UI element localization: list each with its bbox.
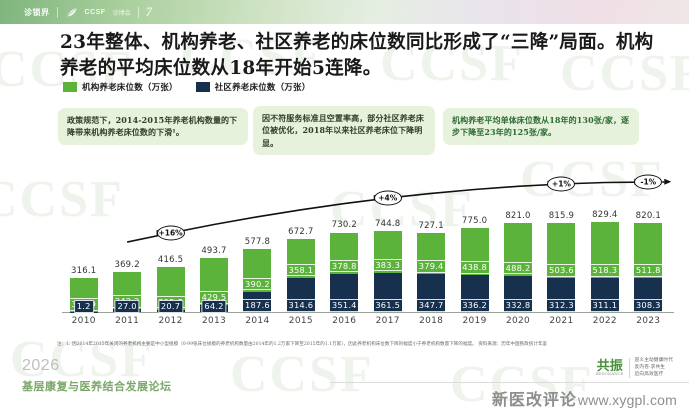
bar-segment-label: 351.4	[329, 299, 360, 312]
brand-tagline: 迎义主动健康时代	[635, 358, 673, 364]
brand-tagline: 迈向高效医疗	[635, 372, 673, 378]
x-axis-tick-label: 2016	[332, 316, 356, 326]
bar-total-label: 577.8	[245, 237, 270, 247]
bar-segment-label: 488.2	[503, 262, 534, 275]
x-axis-tick-label: 2010	[72, 316, 96, 326]
resonance-logo-sub: RESONANCE	[596, 373, 624, 377]
bar-segment-institutional: 358.1	[287, 239, 315, 278]
callout-policy-note: 政策规范下，2014-2015年养老机构数量的下降带来机构养老床位数的下滑¹。	[58, 108, 248, 145]
legend-swatch-icon	[196, 82, 210, 92]
bar-group: 821.0488.2332.8	[504, 223, 532, 312]
bar-segment-institutional: 488.2	[504, 223, 532, 276]
bar-segment-label: 20.7	[158, 300, 183, 313]
bar-segment-label: 347.7	[416, 299, 447, 312]
bar-segment-label: 379.4	[416, 260, 447, 273]
x-axis-tick-label: 2015	[289, 316, 313, 326]
bar-segment-label: 332.8	[503, 299, 534, 312]
x-axis-tick-label: 2021	[549, 316, 573, 326]
bar-group: 493.7429.564.2	[200, 258, 228, 312]
bar-segment-institutional: 518.3	[591, 222, 619, 278]
bar-segment-community: 311.1	[591, 278, 619, 312]
bar-segment-label: 383.3	[372, 259, 403, 272]
brand-tagline: 反内卷·求共生	[635, 365, 673, 371]
callout-community-note: 因不符服务标准且空置率高，部分社区养老床位被优化，2018年以来社区养老床位下降…	[253, 106, 435, 155]
footnote-text: 注：1. 因2014年2015年关闭的养老机构主要是中小型规模（0-99张床位规…	[57, 341, 627, 349]
bar-segment-label: 511.8	[633, 264, 664, 277]
bar-total-label: 775.0	[462, 216, 487, 226]
bar-group: 672.7358.1314.6	[287, 239, 315, 312]
bar-group: 820.1511.8308.3	[634, 223, 662, 312]
bar-segment-label: 308.3	[633, 299, 664, 312]
growth-badge: +4%	[374, 191, 402, 206]
bar-segment-label: 518.3	[589, 264, 620, 277]
legend-item-institutional: 机构养老床位数（万张）	[63, 81, 178, 93]
bar-segment-community: 347.7	[417, 274, 445, 312]
bar-group: 815.9503.6312.3	[547, 223, 575, 312]
brand-divider	[629, 358, 630, 378]
header-divider	[57, 7, 58, 18]
bar-segment-label: 390.2	[242, 278, 273, 291]
bar-segment-community: 351.4	[330, 274, 358, 312]
x-axis-tick-label: 2023	[636, 316, 660, 326]
bar-segment-label: 503.6	[546, 264, 577, 277]
bar-group: 829.4518.3311.1	[591, 222, 619, 312]
bar-segment-label: 361.5	[372, 299, 403, 312]
bar-segment-label: 312.3	[546, 299, 577, 312]
growth-badge: -1%	[634, 175, 662, 190]
bar-segment-institutional: 390.2	[243, 249, 271, 291]
x-axis-tick-label: 2019	[463, 316, 487, 326]
bar-segment-institutional: 383.3	[374, 231, 402, 273]
x-axis-tick-label: 2013	[202, 316, 226, 326]
bar-total-label: 727.1	[418, 221, 443, 231]
header-brand-group: 诊锁界 CCSF 诊博会 7	[24, 5, 152, 19]
stacked-bar-chart: 316.1314.91.22010369.2342.227.02011416.5…	[0, 160, 689, 338]
growth-badge: +1%	[547, 176, 575, 191]
bar-total-label: 493.7	[201, 246, 226, 256]
bar-group: 416.5395.820.7	[157, 267, 185, 312]
bar-segment-label: 336.2	[459, 299, 490, 312]
bar-segment-label: 314.6	[285, 299, 316, 312]
bar-segment-label: 438.8	[459, 261, 490, 274]
header-divider	[138, 7, 139, 18]
issue-number-label: 7	[146, 4, 153, 20]
bar-group: 775.0438.8336.2	[461, 228, 489, 312]
legend-label: 机构养老床位数（万张）	[82, 81, 178, 93]
chart-legend: 机构养老床位数（万张） 社区养老床位数（万张）	[63, 81, 310, 93]
x-axis-tick-label: 2012	[159, 316, 183, 326]
bar-segment-label: 311.1	[589, 299, 620, 312]
bar-total-label: 829.4	[592, 210, 617, 220]
bar-segment-institutional: 511.8	[634, 223, 662, 279]
bar-group: 744.8383.3361.5	[374, 231, 402, 312]
x-axis-tick-label: 2011	[115, 316, 139, 326]
header-band: 诊锁界 CCSF 诊博会 7	[0, 0, 689, 24]
bar-total-label: 821.0	[505, 211, 530, 221]
bar-total-label: 369.2	[114, 260, 139, 270]
bar-total-label: 672.7	[288, 227, 313, 237]
leaf-icon	[65, 6, 78, 19]
brand-name-label: 诊锁界	[24, 7, 50, 18]
ccsf-sub-label: 诊博会	[113, 8, 131, 17]
bar-total-label: 316.1	[71, 266, 96, 276]
callout-average-beds-note: 机构养老平均单体床位数从18年的130张/家，逐步下降至23年的125张/家。	[443, 108, 639, 145]
resonance-logo: 共振 RESONANCE	[596, 360, 624, 377]
site-credit-url: www.xygpl.com	[578, 392, 677, 408]
bar-segment-community: 361.5	[374, 273, 402, 312]
bar-group: 316.1314.91.2	[70, 278, 98, 312]
footer-divider	[330, 382, 689, 383]
bar-segment-community: 20.7	[157, 310, 185, 312]
bar-total-label: 416.5	[158, 255, 183, 265]
bar-segment-institutional: 438.8	[461, 228, 489, 276]
bar-segment-community: 312.3	[547, 278, 575, 312]
x-axis-tick-label: 2014	[245, 316, 269, 326]
brand-tagline-group: 迎义主动健康时代 反内卷·求共生 迈向高效医疗	[635, 358, 673, 377]
growth-badge: +16%	[157, 225, 185, 240]
bar-segment-institutional: 503.6	[547, 223, 575, 278]
bar-group: 577.8390.2187.6	[243, 249, 271, 312]
bar-segment-community: 308.3	[634, 278, 662, 312]
bar-segment-label: 64.2	[201, 300, 226, 313]
legend-swatch-icon	[63, 82, 77, 92]
site-credit: 新医改评论 www.xygpl.com	[492, 386, 677, 410]
site-credit-name: 新医改评论	[492, 386, 577, 410]
x-axis-tick-label: 2022	[593, 316, 617, 326]
bar-total-label: 820.1	[636, 211, 661, 221]
watermark-text: CCSF	[230, 345, 374, 404]
x-axis-tick-label: 2018	[419, 316, 443, 326]
trend-arrow-icon	[664, 179, 671, 185]
bar-segment-institutional: 429.5	[200, 258, 228, 305]
bar-segment-label: 378.8	[329, 260, 360, 273]
bar-segment-institutional: 379.4	[417, 233, 445, 274]
x-axis-tick-label: 2020	[506, 316, 530, 326]
page-title: 23年整体、机构养老、社区养老的床位数同比形成了“三降”局面。机构养老的平均床位…	[60, 30, 660, 83]
footer-brand-block: 共振 RESONANCE 迎义主动健康时代 反内卷·求共生 迈向高效医疗	[596, 358, 673, 378]
bar-total-label: 730.2	[332, 220, 357, 230]
bar-segment-community: 27.0	[113, 309, 141, 312]
footer-forum-block: 2026 基层康复与医养结合发展论坛	[22, 358, 172, 394]
bar-segment-institutional: 378.8	[330, 233, 358, 274]
ccsf-label: CCSF	[85, 9, 106, 16]
x-axis-tick-label: 2017	[376, 316, 400, 326]
bar-segment-community: 314.6	[287, 278, 315, 312]
bar-group: 727.1379.4347.7	[417, 233, 445, 312]
bar-segment-label: 358.1	[285, 264, 316, 277]
bar-total-label: 815.9	[549, 211, 574, 221]
bar-total-label: 744.8	[375, 219, 400, 229]
legend-label: 社区养老床位数（万张）	[215, 81, 311, 93]
legend-item-community: 社区养老床位数（万张）	[196, 81, 311, 93]
bar-segment-label: 27.0	[115, 300, 140, 313]
bar-segment-label: 187.6	[242, 299, 273, 312]
bar-segment-label: 1.2	[74, 300, 94, 313]
bar-group: 730.2378.8351.4	[330, 232, 358, 312]
bar-segment-community: 64.2	[200, 305, 228, 312]
forum-year-label: 2026	[22, 358, 172, 374]
bar-segment-community: 332.8	[504, 276, 532, 312]
bar-segment-community: 187.6	[243, 292, 271, 312]
forum-title-label: 基层康复与医养结合发展论坛	[22, 378, 172, 394]
bar-segment-community: 336.2	[461, 275, 489, 312]
bar-group: 369.2342.227.0	[113, 272, 141, 312]
